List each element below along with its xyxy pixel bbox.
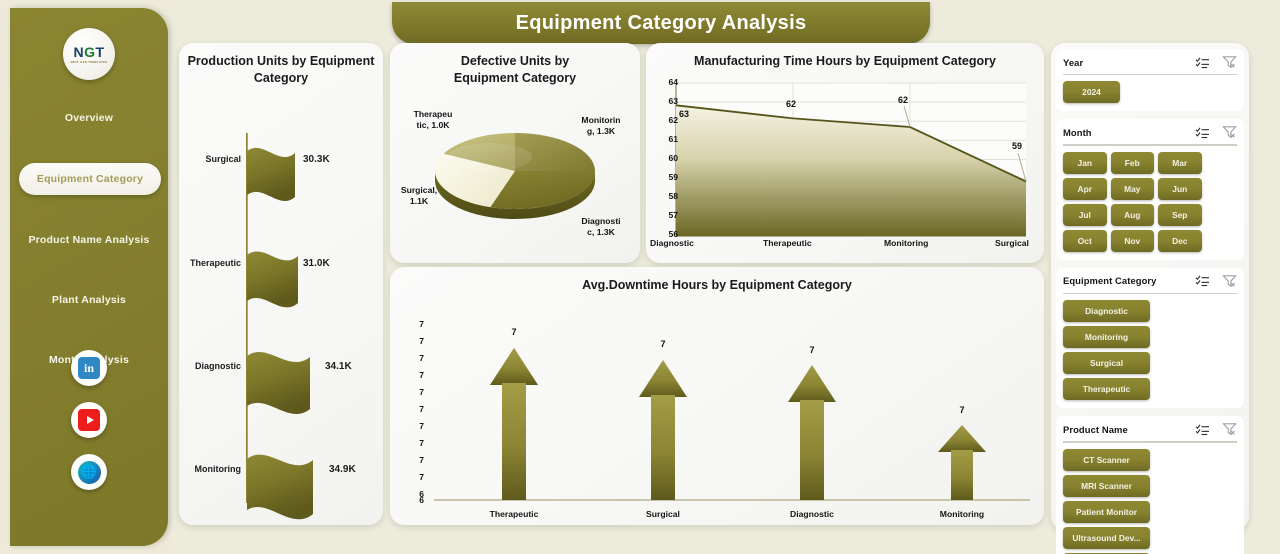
card-avg-downtime: Avg.Downtime Hours by Equipment Category (390, 267, 1044, 525)
chip-category-therapeutic[interactable]: Therapeutic (1063, 378, 1150, 400)
page-header: Equipment Category Analysis (392, 2, 930, 44)
card-defective-units: Defective Units by Equipment Category (390, 43, 640, 263)
slicer-header-equipment-category: Equipment Category (1063, 274, 1237, 288)
slicer-year: Year (1056, 49, 1244, 111)
flag-value-surgical: 30.3K (303, 154, 330, 165)
brand-logo: NGT NEXT GEN TEMPLATES (63, 28, 115, 80)
slicer-product-name: Product Name (1056, 416, 1244, 554)
slicer-header-year: Year (1063, 55, 1237, 69)
slicer-actions-year (1195, 55, 1237, 69)
x-label-monitoring: Monitoring (907, 509, 1017, 519)
y-tick-11: 6 (404, 495, 424, 505)
y-tick-6: 7 (404, 421, 424, 431)
sidebar-item-equipment-category[interactable]: Equipment Category (19, 163, 161, 195)
y-tick-60: 60 (654, 153, 678, 163)
manufacturing-time-area-chart (646, 71, 1044, 261)
chip-month-may[interactable]: May (1111, 178, 1155, 200)
slicer-title-product-name: Product Name (1063, 424, 1128, 435)
chip-category-monitoring[interactable]: Monitoring (1063, 326, 1150, 348)
multi-select-icon[interactable] (1195, 423, 1210, 436)
arrow-value-monitoring: 7 (942, 405, 982, 415)
chart-title-defective-units: Defective Units by Equipment Category (390, 43, 640, 87)
x-tick-surgical: Surgical (995, 238, 1029, 248)
slicer-options-year: 2024 (1063, 81, 1237, 103)
arrow-value-surgical: 7 (643, 339, 683, 349)
data-label-therapeutic: 62 (786, 99, 796, 109)
logo-wordmark: NGT (73, 45, 104, 59)
flag-value-diagnostic: 34.1K (325, 361, 352, 372)
data-label-diagnostic: 63 (679, 109, 689, 119)
x-label-surgical: Surgical (608, 509, 718, 519)
y-tick-4: 7 (404, 387, 424, 397)
slicer-rule (1063, 74, 1237, 75)
flag-value-monitoring: 34.9K (329, 464, 356, 475)
sidebar-item-plant-analysis[interactable]: Plant Analysis (10, 285, 168, 315)
clear-filter-icon[interactable] (1222, 422, 1237, 436)
y-tick-63: 63 (654, 96, 678, 106)
chip-month-sep[interactable]: Sep (1158, 204, 1202, 226)
y-tick-62: 62 (654, 115, 678, 125)
clear-filter-icon[interactable] (1222, 55, 1237, 69)
chip-year-2024[interactable]: 2024 (1063, 81, 1120, 103)
x-tick-diagnostic: Diagnostic (650, 238, 694, 248)
slicer-rule (1063, 293, 1237, 294)
flag-label-therapeutic: Therapeutic (179, 258, 241, 268)
slicer-options-product-name: CT Scanner MRI Scanner Patient Monitor U… (1063, 449, 1237, 554)
slicer-header-product-name: Product Name (1063, 422, 1237, 436)
x-tick-therapeutic: Therapeutic (763, 238, 812, 248)
multi-select-icon[interactable] (1195, 56, 1210, 69)
slicer-title-month: Month (1063, 127, 1092, 138)
card-manufacturing-time: Manufacturing Time Hours by Equipment Ca… (646, 43, 1044, 263)
chip-month-aug[interactable]: Aug (1111, 204, 1155, 226)
y-tick-7: 7 (404, 438, 424, 448)
chip-month-nov[interactable]: Nov (1111, 230, 1155, 252)
slicer-header-month: Month (1063, 125, 1237, 139)
pie-label-diagnostic: Diagnosti c, 1.3K (570, 216, 632, 237)
y-tick-1: 7 (404, 336, 424, 346)
chip-month-jan[interactable]: Jan (1063, 152, 1107, 174)
chip-product-patient-monitor[interactable]: Patient Monitor (1063, 501, 1150, 523)
dashboard-root: NGT NEXT GEN TEMPLATES Overview Equipmen… (0, 0, 1280, 554)
slicer-title-equipment-category: Equipment Category (1063, 275, 1156, 286)
arrow-value-diagnostic: 7 (792, 345, 832, 355)
multi-select-icon[interactable] (1195, 126, 1210, 139)
slicer-actions-equipment-category (1195, 274, 1237, 288)
sidebar-region: NGT NEXT GEN TEMPLATES Overview Equipmen… (0, 0, 170, 554)
slicer-actions-month (1195, 125, 1237, 139)
chip-product-ultrasound-device[interactable]: Ultrasound Dev... (1063, 527, 1150, 549)
chip-month-oct[interactable]: Oct (1063, 230, 1107, 252)
y-tick-58: 58 (654, 191, 678, 201)
sidebar-item-product-name-analysis[interactable]: Product Name Analysis (10, 225, 168, 255)
slicer-options-month: Jan Feb Mar Apr May Jun Jul Aug Sep Oct … (1063, 152, 1237, 252)
y-tick-5: 7 (404, 404, 424, 414)
clear-filter-icon[interactable] (1222, 125, 1237, 139)
chip-product-ct-scanner[interactable]: CT Scanner (1063, 449, 1150, 471)
slicer-title-year: Year (1063, 57, 1083, 68)
y-tick-61: 61 (654, 134, 678, 144)
y-tick-9: 7 (404, 472, 424, 482)
logo-letter-g: G (84, 44, 95, 60)
chip-category-surgical[interactable]: Surgical (1063, 352, 1150, 374)
y-tick-3: 7 (404, 370, 424, 380)
chip-month-feb[interactable]: Feb (1111, 152, 1155, 174)
logo-tagline: NEXT GEN TEMPLATES (71, 61, 108, 64)
flag-label-surgical: Surgical (183, 154, 241, 164)
flag-row-monitoring: Monitoring 34.9K (179, 451, 383, 547)
filter-panel: Year (1051, 43, 1249, 530)
chip-month-dec[interactable]: Dec (1158, 230, 1202, 252)
arrow-diagnostic (788, 365, 836, 402)
chip-category-diagnostic[interactable]: Diagnostic (1063, 300, 1150, 322)
flag-row-therapeutic: Therapeutic 31.0K (179, 245, 383, 341)
linkedin-link[interactable]: in (71, 350, 107, 386)
flag-value-therapeutic: 31.0K (303, 258, 330, 269)
x-label-diagnostic: Diagnostic (757, 509, 867, 519)
chart-title-production-units: Production Units by Equipment Category (179, 43, 383, 87)
sidebar-item-overview[interactable]: Overview (10, 103, 168, 133)
chip-month-mar[interactable]: Mar (1158, 152, 1202, 174)
sidebar: NGT NEXT GEN TEMPLATES Overview Equipmen… (10, 8, 168, 546)
slicer-rule (1063, 441, 1237, 442)
y-tick-64: 64 (654, 77, 678, 87)
youtube-icon (78, 409, 100, 431)
flag-label-diagnostic: Diagnostic (181, 361, 241, 371)
linkedin-icon: in (78, 357, 100, 379)
website-link[interactable]: 🌐 (71, 454, 107, 490)
chip-month-jun[interactable]: Jun (1158, 178, 1202, 200)
card-production-units: Production Units by Equipment Category (179, 43, 383, 525)
pie-label-therapeutic: Therapeu tic, 1.0K (402, 109, 464, 130)
slicer-rule (1063, 144, 1237, 145)
y-tick-57: 57 (654, 210, 678, 220)
y-tick-2: 7 (404, 353, 424, 363)
x-tick-monitoring: Monitoring (884, 238, 928, 248)
arrow-monitoring (938, 425, 986, 452)
multi-select-icon[interactable] (1195, 274, 1210, 287)
chip-month-jul[interactable]: Jul (1063, 204, 1107, 226)
chip-product-mri-scanner[interactable]: MRI Scanner (1063, 475, 1150, 497)
logo-letter-t: T (95, 44, 104, 60)
youtube-link[interactable] (71, 402, 107, 438)
x-label-therapeutic: Therapeutic (459, 509, 569, 519)
logo-letter-n: N (73, 44, 84, 60)
flag-row-surgical: Surgical 30.3K (179, 141, 383, 237)
y-tick-59: 59 (654, 172, 678, 182)
data-label-surgical: 59 (1012, 141, 1022, 151)
flag-row-diagnostic: Diagnostic 34.1K (179, 348, 383, 444)
y-tick-8: 7 (404, 455, 424, 465)
slicer-month: Month (1056, 119, 1244, 259)
chip-month-apr[interactable]: Apr (1063, 178, 1107, 200)
slicer-actions-product-name (1195, 422, 1237, 436)
slicer-options-equipment-category: Diagnostic Monitoring Surgical Therapeut… (1063, 300, 1237, 400)
page-title: Equipment Category Analysis (516, 12, 807, 35)
social-links: in 🌐 (10, 350, 168, 506)
pie-label-surgical: Surgical, 1.1K (388, 185, 450, 206)
data-label-monitoring: 62 (898, 95, 908, 105)
globe-icon: 🌐 (78, 461, 101, 484)
arrow-surgical (639, 360, 687, 397)
pie-label-monitoring: Monitorin g, 1.3K (570, 115, 632, 136)
y-tick-0: 7 (404, 319, 424, 329)
arrow-value-therapeutic: 7 (494, 327, 534, 337)
chart-title-manufacturing-time: Manufacturing Time Hours by Equipment Ca… (646, 43, 1044, 70)
flag-label-monitoring: Monitoring (179, 464, 241, 474)
clear-filter-icon[interactable] (1222, 274, 1237, 288)
slicer-equipment-category: Equipment Category (1056, 268, 1244, 408)
